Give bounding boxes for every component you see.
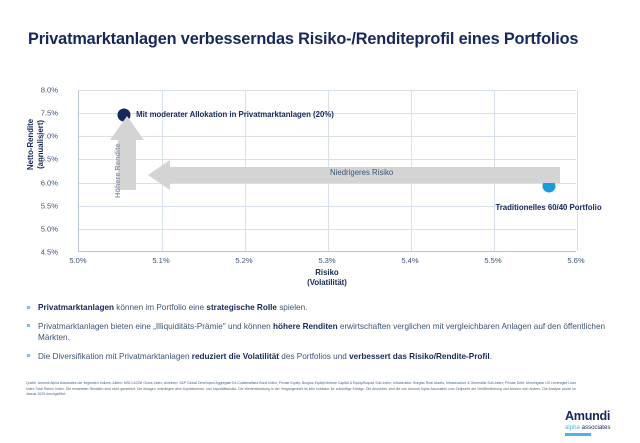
key-point-emphasis: höhere Renditen: [273, 322, 338, 331]
lower-risk-label: Niedrigeres Risiko: [330, 168, 393, 177]
bullet-marker-icon: [27, 354, 30, 357]
key-point-text: .: [490, 352, 492, 361]
x-axis-tick-label: 5.0%: [56, 256, 100, 265]
y-axis-tick-label: 8.0%: [14, 86, 58, 95]
bullet-marker-icon: [27, 306, 30, 309]
gridline-vertical: [577, 90, 578, 251]
key-point-emphasis: reduziert die Volatilität: [192, 352, 279, 361]
scatter-point-label: Traditionelles 60/40 Portfolio: [495, 203, 591, 213]
chart-container: Netto-Rendite (annualisiert) Risiko (Vol…: [0, 78, 640, 283]
key-point-text: des Portfolios und: [279, 352, 349, 361]
bullet-marker-icon: [27, 324, 30, 327]
logo-tagline-associates: associates: [580, 424, 610, 431]
key-points-list: Privatmarktanlagen können im Portfolio e…: [26, 302, 626, 370]
key-point-emphasis: strategische Rolle: [206, 303, 277, 312]
key-point-emphasis: Privatmarktanlagen: [38, 303, 114, 312]
x-axis-title-line1: Risiko: [315, 268, 338, 277]
x-axis-title-line2: (Volatilität): [307, 278, 347, 287]
x-axis-tick-label: 5.2%: [222, 256, 266, 265]
logo-tagline: alpha associates: [565, 424, 627, 431]
key-point-item: Die Diversifikation mit Privatmarktanlag…: [26, 351, 626, 363]
key-point-text: Privatmarktanlagen bieten eine „Illiquid…: [38, 322, 273, 331]
key-point-item: Privatmarktanlagen können im Portfolio e…: [26, 302, 626, 314]
higher-return-label: Höhere Rendite: [113, 143, 122, 198]
source-footnote: Quelle: Amundi Alpha Associates der folg…: [26, 381, 576, 398]
x-axis-tick-label: 5.5%: [471, 256, 515, 265]
y-axis-tick-label: 6.5%: [14, 155, 58, 164]
key-point-text: spielen.: [277, 303, 308, 312]
key-point-text: Die Diversifikation mit Privatmarktanlag…: [38, 352, 192, 361]
key-point-item: Privatmarktanlagen bieten eine „Illiquid…: [26, 321, 626, 344]
x-axis-tick-label: 5.6%: [554, 256, 598, 265]
logo-tagline-alpha: alpha: [565, 424, 580, 431]
x-axis-title: Risiko (Volatilität): [78, 268, 576, 287]
x-axis-tick-label: 5.3%: [305, 256, 349, 265]
x-axis-tick-label: 5.1%: [139, 256, 183, 265]
arrow-up-head-icon: [110, 116, 144, 140]
y-axis-tick-label: 6.0%: [14, 178, 58, 187]
scatter-point-label: Mit moderater Allokation in Privatmarkta…: [136, 110, 334, 120]
y-axis-tick-label: 4.5%: [14, 248, 58, 257]
amundi-logo: Amundi alpha associates: [565, 410, 627, 436]
arrow-left-head-icon: [148, 160, 170, 190]
key-point-emphasis: verbessert das Risiko/Rendite-Profil: [349, 352, 490, 361]
logo-wordmark: Amundi: [565, 410, 627, 423]
y-axis-tick-label: 5.5%: [14, 201, 58, 210]
y-axis-tick-label: 7.5%: [14, 109, 58, 118]
key-point-text: können im Portfolio eine: [114, 303, 206, 312]
higher-return-text: Höhere Rendite: [113, 143, 122, 198]
y-axis-tick-label: 7.0%: [14, 132, 58, 141]
x-axis-tick-label: 5.4%: [388, 256, 432, 265]
page-title: Privatmarktanlagen verbesserndas Risiko-…: [28, 30, 628, 49]
logo-accent-bar: [565, 433, 591, 436]
y-axis-tick-label: 5.0%: [14, 224, 58, 233]
